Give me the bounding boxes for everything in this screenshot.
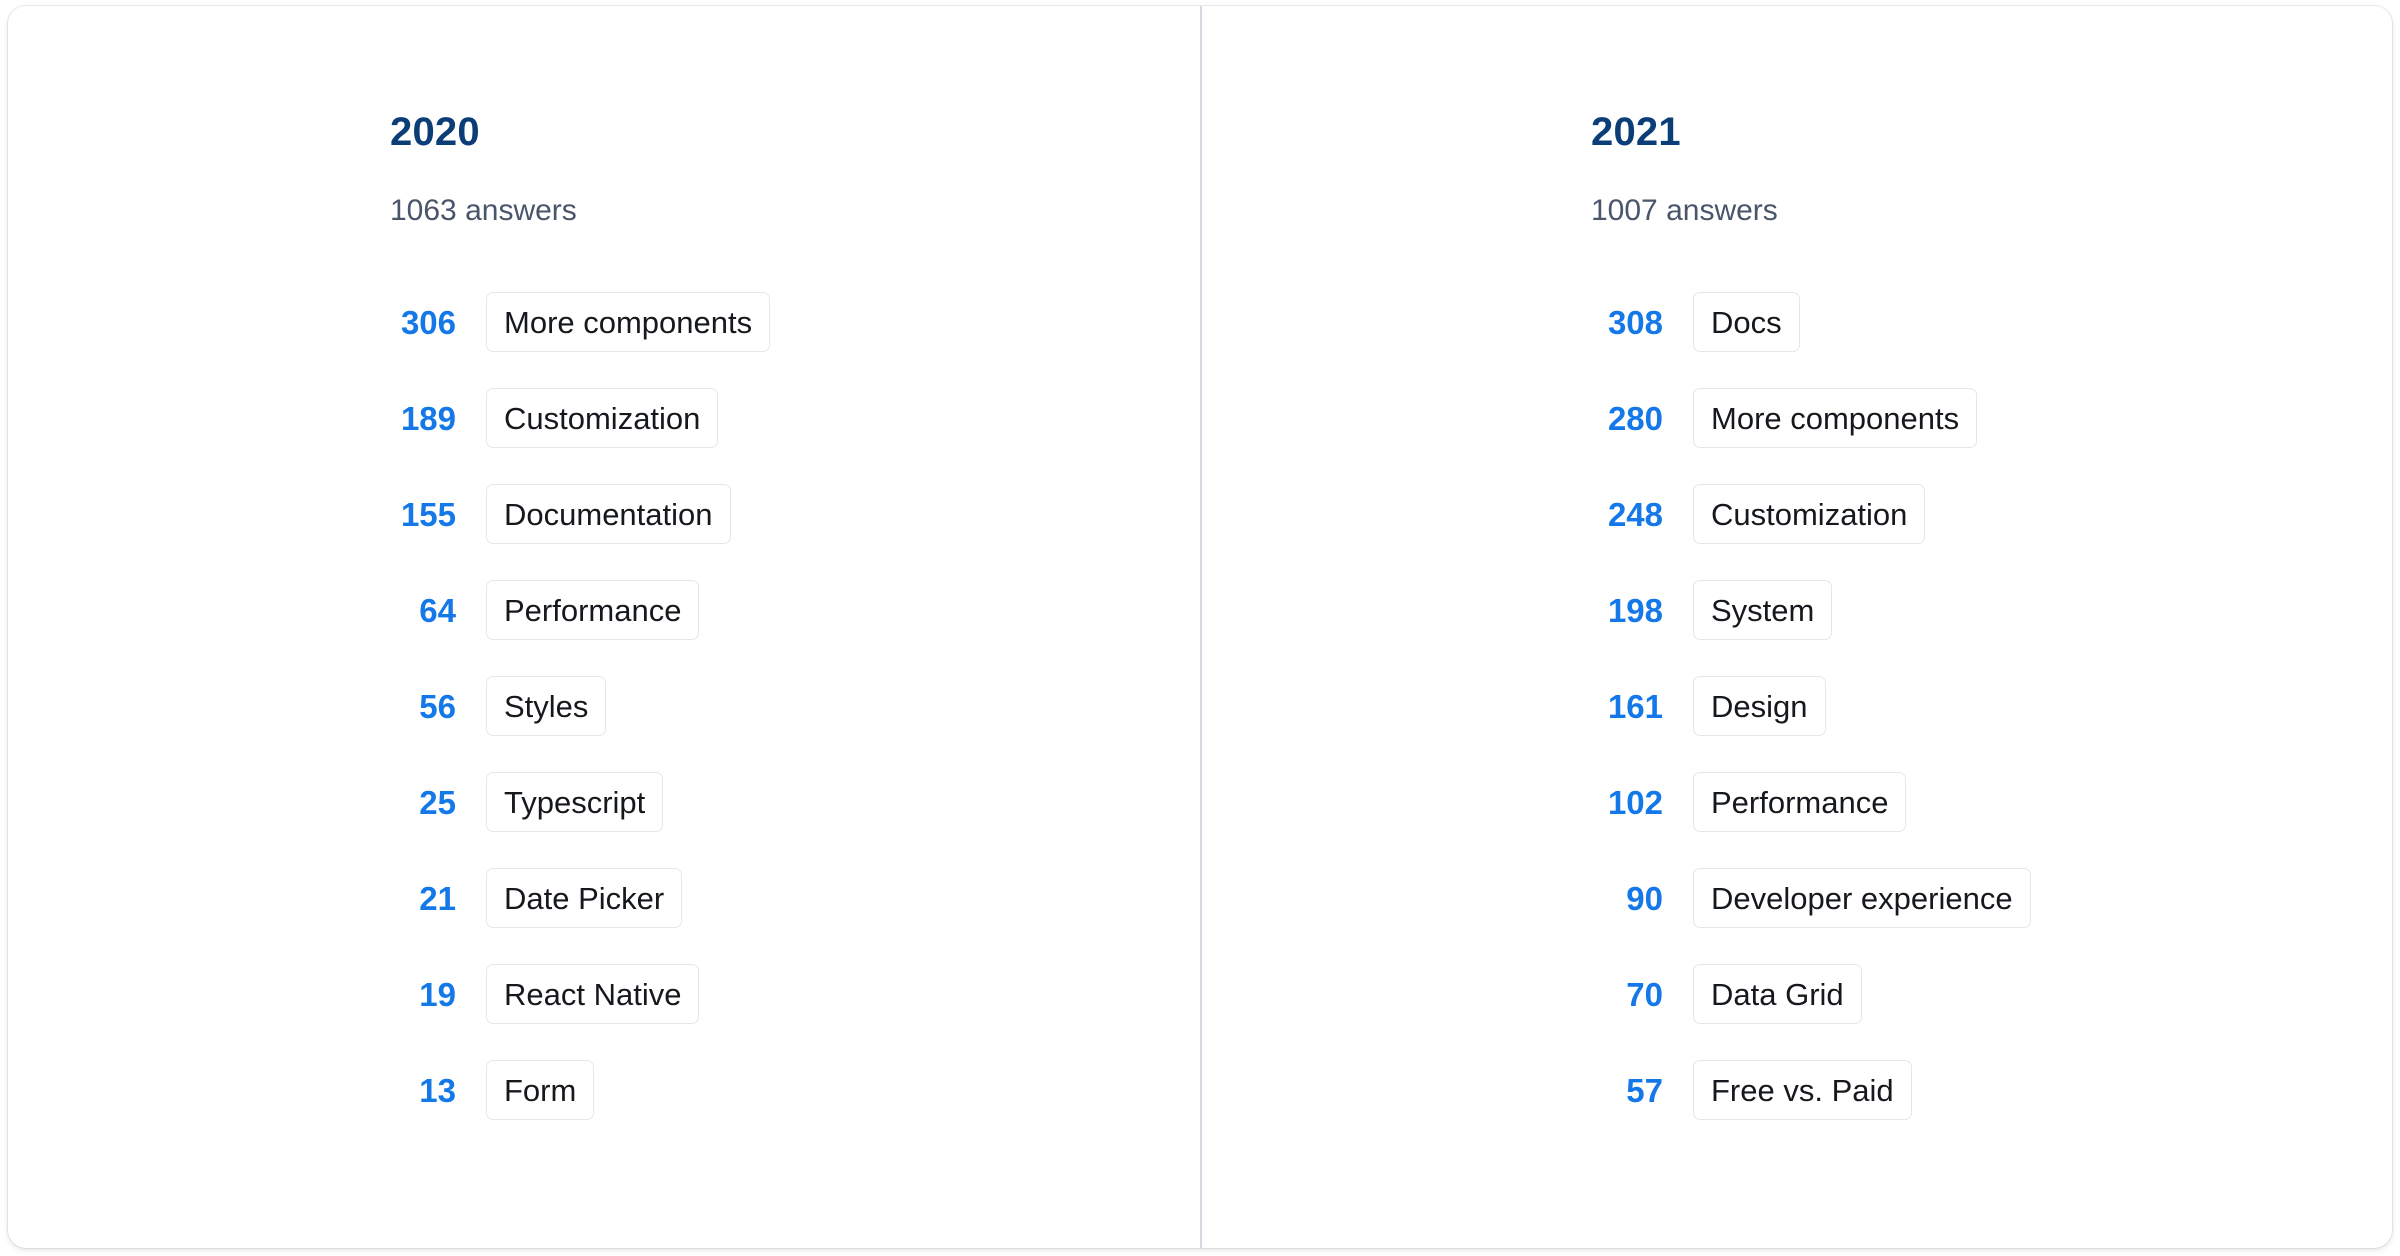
answer-count: 280 — [1591, 402, 1663, 435]
answer-chip-label: Customization — [504, 403, 700, 434]
answer-row: 308 Docs — [1591, 274, 2392, 370]
answer-row: 21 Date Picker — [390, 850, 1200, 946]
answer-chip[interactable]: Free vs. Paid — [1693, 1060, 1912, 1120]
answer-chip-label: More components — [504, 307, 752, 338]
answer-chip[interactable]: Performance — [1693, 772, 1906, 832]
answer-chip-label: Docs — [1711, 307, 1782, 338]
year-heading-2021: 2021 — [1591, 112, 2392, 152]
answer-chip[interactable]: Form — [486, 1060, 594, 1120]
answer-chip[interactable]: Docs — [1693, 292, 1800, 352]
answer-count: 306 — [390, 306, 456, 339]
answer-chip-label: System — [1711, 595, 1814, 626]
answer-chip-label: Customization — [1711, 499, 1907, 530]
comparison-card: 2020 1063 answers 306 More components 18… — [8, 6, 2392, 1248]
answer-row: 64 Performance — [390, 562, 1200, 658]
answer-chip[interactable]: Performance — [486, 580, 699, 640]
answer-count: 90 — [1591, 882, 1663, 915]
answer-chip-label: Data Grid — [1711, 979, 1844, 1010]
answer-count: 308 — [1591, 306, 1663, 339]
answer-chip[interactable]: More components — [486, 292, 770, 352]
answer-chip-label: Date Picker — [504, 883, 664, 914]
year-heading-2020: 2020 — [390, 112, 1200, 152]
answer-count: 25 — [390, 786, 456, 819]
panel-2020: 2020 1063 answers 306 More components 18… — [8, 6, 1200, 1248]
answer-count: 189 — [390, 402, 456, 435]
answer-count: 102 — [1591, 786, 1663, 819]
answer-chip-label: Documentation — [504, 499, 713, 530]
answer-row: 57 Free vs. Paid — [1591, 1042, 2392, 1138]
answers-count-2020: 1063 answers — [390, 196, 1200, 226]
answer-row: 161 Design — [1591, 658, 2392, 754]
answer-chip-label: Performance — [504, 595, 681, 626]
answer-row: 280 More components — [1591, 370, 2392, 466]
answer-row: 70 Data Grid — [1591, 946, 2392, 1042]
answer-chip[interactable]: More components — [1693, 388, 1977, 448]
answer-chip-label: More components — [1711, 403, 1959, 434]
answer-count: 248 — [1591, 498, 1663, 531]
answer-chip[interactable]: Developer experience — [1693, 868, 2031, 928]
answer-chip[interactable]: Customization — [1693, 484, 1925, 544]
panel-2020-inner: 2020 1063 answers 306 More components 18… — [8, 6, 1200, 1138]
answer-row: 189 Customization — [390, 370, 1200, 466]
answer-chip-label: Styles — [504, 691, 588, 722]
answer-row: 198 System — [1591, 562, 2392, 658]
answer-chip-label: Typescript — [504, 787, 645, 818]
answer-count: 161 — [1591, 690, 1663, 723]
answer-count: 19 — [390, 978, 456, 1011]
answer-chip[interactable]: Documentation — [486, 484, 731, 544]
answer-row: 306 More components — [390, 274, 1200, 370]
answer-chip[interactable]: Date Picker — [486, 868, 682, 928]
answer-row: 102 Performance — [1591, 754, 2392, 850]
answer-list-2021: 308 Docs 280 More components 248 — [1591, 274, 2392, 1138]
answer-row: 13 Form — [390, 1042, 1200, 1138]
answer-count: 57 — [1591, 1074, 1663, 1107]
answer-row: 248 Customization — [1591, 466, 2392, 562]
answer-chip[interactable]: Data Grid — [1693, 964, 1862, 1024]
answer-chip-label: Design — [1711, 691, 1808, 722]
panel-2021: 2021 1007 answers 308 Docs 280 More comp… — [1202, 6, 2392, 1248]
answer-chip[interactable]: React Native — [486, 964, 699, 1024]
answer-chip[interactable]: Customization — [486, 388, 718, 448]
answer-count: 56 — [390, 690, 456, 723]
answer-count: 21 — [390, 882, 456, 915]
answer-chip[interactable]: Typescript — [486, 772, 663, 832]
answer-count: 155 — [390, 498, 456, 531]
answers-count-2021: 1007 answers — [1591, 196, 2392, 226]
answer-row: 25 Typescript — [390, 754, 1200, 850]
answer-list-2020: 306 More components 189 Customization 15… — [390, 274, 1200, 1138]
answer-row: 19 React Native — [390, 946, 1200, 1042]
answer-chip-label: Performance — [1711, 787, 1888, 818]
panel-2021-inner: 2021 1007 answers 308 Docs 280 More comp… — [1202, 6, 2392, 1138]
answer-row: 56 Styles — [390, 658, 1200, 754]
answer-count: 70 — [1591, 978, 1663, 1011]
answer-chip[interactable]: Design — [1693, 676, 1826, 736]
answer-row: 90 Developer experience — [1591, 850, 2392, 946]
answer-count: 13 — [390, 1074, 456, 1107]
answer-row: 155 Documentation — [390, 466, 1200, 562]
screenshot-canvas: 2020 1063 answers 306 More components 18… — [0, 0, 2400, 1256]
answer-count: 198 — [1591, 594, 1663, 627]
answer-chip[interactable]: System — [1693, 580, 1832, 640]
answer-chip[interactable]: Styles — [486, 676, 606, 736]
answer-chip-label: Developer experience — [1711, 883, 2013, 914]
answer-chip-label: React Native — [504, 979, 681, 1010]
answer-count: 64 — [390, 594, 456, 627]
answer-chip-label: Form — [504, 1075, 576, 1106]
answer-chip-label: Free vs. Paid — [1711, 1075, 1894, 1106]
